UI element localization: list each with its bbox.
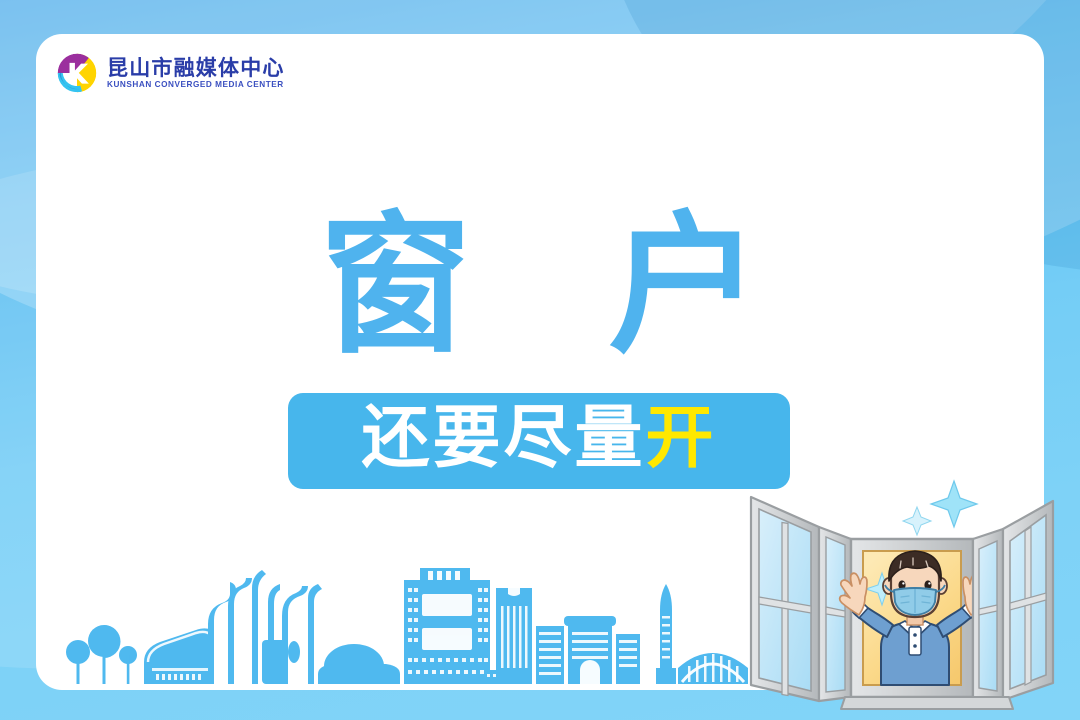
subtitle-banner: 还要尽量开 bbox=[288, 393, 790, 489]
poster-white-card: 昆山市融媒体中心 KUNSHAN CONVERGED MEDIA CENTER … bbox=[36, 34, 1044, 690]
kunshan-media-center-logo-icon bbox=[56, 52, 98, 94]
sparkle-icons bbox=[903, 481, 977, 535]
window-left-sash bbox=[751, 497, 819, 701]
main-headline: 窗 户 bbox=[36, 196, 1044, 375]
subtitle-highlight-part: 开 bbox=[646, 399, 717, 478]
open-window-illustration bbox=[741, 469, 1061, 719]
window-right-sash bbox=[1003, 501, 1053, 700]
brand-logo: 昆山市融媒体中心 KUNSHAN CONVERGED MEDIA CENTER bbox=[56, 52, 285, 94]
logo-title-cn: 昆山市融媒体中心 bbox=[107, 58, 285, 80]
window-right-inner-sash bbox=[973, 529, 1003, 700]
logo-title-en: KUNSHAN CONVERGED MEDIA CENTER bbox=[107, 81, 285, 89]
window-left-inner-sash bbox=[819, 527, 851, 701]
subtitle-white-part: 还要尽量 bbox=[361, 399, 645, 478]
poster-canvas: 昆山市融媒体中心 KUNSHAN CONVERGED MEDIA CENTER … bbox=[0, 0, 1080, 720]
logo-text-block: 昆山市融媒体中心 KUNSHAN CONVERGED MEDIA CENTER bbox=[107, 57, 285, 89]
subtitle-text: 还要尽量开 bbox=[361, 405, 716, 478]
